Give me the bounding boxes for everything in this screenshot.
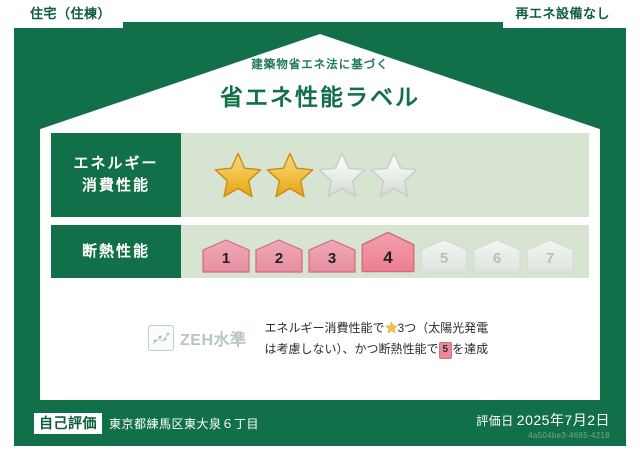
evaluation-date-label: 評価日 xyxy=(476,414,514,428)
grade-number: 2 xyxy=(275,251,283,274)
zeh-badge: ZEH水準 xyxy=(148,318,247,351)
zeh-section: ZEH水準 エネルギー消費性能で3つ（太陽光発電 は考慮しない）、かつ断熱性能で… xyxy=(148,318,488,360)
insulation-label-line1: 断熱性能 xyxy=(82,241,150,263)
evaluation-date-value: 2025年7月2日 xyxy=(517,412,610,428)
insulation-grade-7: 7 xyxy=(525,238,575,274)
zeh-description-line2: は考慮しない）、かつ断熱性能で5を達成 xyxy=(265,339,489,360)
label-title: 省エネ性能ラベル xyxy=(0,78,640,112)
title-block: 建築物省エネ法に基づく 省エネ性能ラベル xyxy=(0,56,640,112)
zeh-desc-line2-post: を達成 xyxy=(452,342,488,356)
energy-performance-value xyxy=(181,133,589,217)
insulation-grade-scale: 1234567 xyxy=(181,230,575,274)
star-filled-icon xyxy=(266,151,314,199)
zeh-label: ZEH水準 xyxy=(180,326,247,350)
insulation-grade-3: 3 xyxy=(307,238,357,274)
evaluation-type-badge: 自己評価 xyxy=(34,413,102,434)
grade-number: 4 xyxy=(383,249,392,274)
property-address: 東京都練馬区東大泉６丁目 xyxy=(109,415,259,432)
footer-right: 評価日2025年7月2日 4a504be3-4685-4218 xyxy=(476,411,610,440)
evaluation-id: 4a504be3-4685-4218 xyxy=(476,431,610,440)
insulation-performance-value: 1234567 xyxy=(181,225,589,278)
insulation-grade-1: 1 xyxy=(201,238,251,274)
grade-number: 5 xyxy=(440,251,448,274)
performance-rows: エネルギー 消費性能 断熱性能 1234567 xyxy=(51,133,589,286)
star-empty-icon xyxy=(318,151,366,199)
zeh-description: エネルギー消費性能で3つ（太陽光発電 は考慮しない）、かつ断熱性能で5を達成 xyxy=(265,318,489,360)
inline-grade-badge: 5 xyxy=(439,342,453,359)
grade-number: 3 xyxy=(328,251,336,274)
label-subtitle: 建築物省エネ法に基づく xyxy=(0,56,640,72)
insulation-grade-6: 6 xyxy=(472,238,522,274)
grade-number: 1 xyxy=(222,251,230,274)
insulation-grade-4: 4 xyxy=(360,230,416,274)
insulation-performance-row: 断熱性能 1234567 xyxy=(51,225,589,278)
inline-star-icon xyxy=(385,321,398,334)
insulation-grade-5: 5 xyxy=(419,238,469,274)
renewable-energy-tag: 再エネ設備なし xyxy=(503,0,626,28)
energy-label-line2: 消費性能 xyxy=(82,175,150,197)
footer-left: 自己評価 東京都練馬区東大泉６丁目 xyxy=(34,413,259,434)
grade-number: 7 xyxy=(546,251,554,274)
star-filled-icon xyxy=(214,151,262,199)
star-rating xyxy=(181,151,418,199)
building-type-tag: 住宅（住棟） xyxy=(14,0,123,28)
zeh-description-line1: エネルギー消費性能で3つ（太陽光発電 xyxy=(265,318,489,339)
insulation-grade-2: 2 xyxy=(254,238,304,274)
zeh-desc-line1-pre: エネルギー消費性能で xyxy=(265,321,385,335)
zeh-desc-line2-pre: は考慮しない）、かつ断熱性能で xyxy=(265,342,439,356)
grade-number: 6 xyxy=(493,251,501,274)
insulation-performance-label: 断熱性能 xyxy=(51,225,181,278)
zeh-desc-line1-post: 3つ（太陽光発電 xyxy=(398,321,489,335)
evaluation-date: 評価日2025年7月2日 xyxy=(476,411,610,430)
energy-performance-label: エネルギー 消費性能 xyxy=(51,133,181,217)
energy-performance-row: エネルギー 消費性能 xyxy=(51,133,589,217)
energy-label-line1: エネルギー xyxy=(73,153,158,175)
zeh-scatter-icon xyxy=(148,325,174,351)
star-empty-icon xyxy=(370,151,418,199)
energy-performance-label: 住宅（住棟） 再エネ設備なし 建築物省エネ法に基づく 省エネ性能ラベル エネルギ… xyxy=(0,0,640,452)
